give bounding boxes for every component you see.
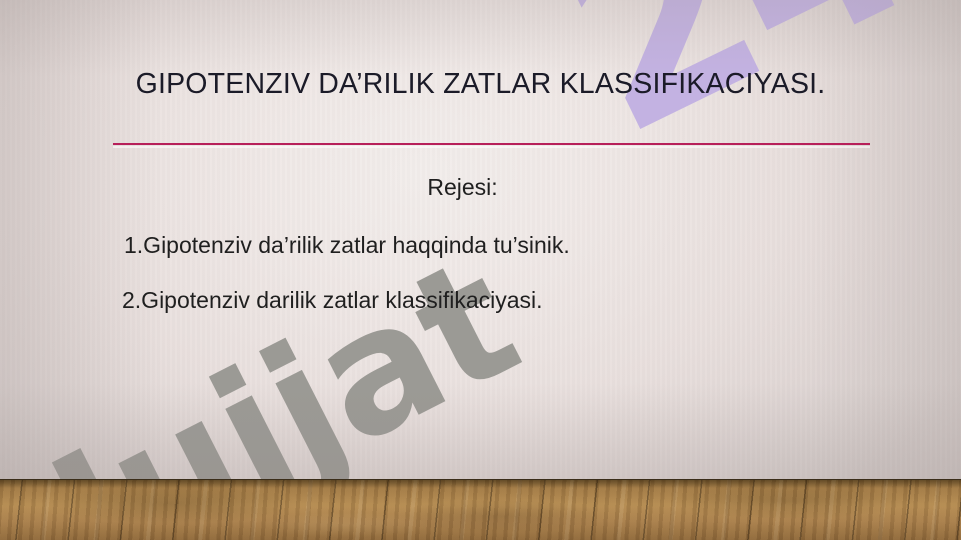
title-divider-rule xyxy=(113,143,870,145)
agenda-heading: Rejesi: xyxy=(0,174,925,201)
floor-shading xyxy=(0,480,961,540)
presentation-slide: 24 Hujjat GIPOTENZIV DA’RILIK ZATLAR KLA… xyxy=(0,0,961,540)
watermark-hujjat-text: Hujjat xyxy=(0,233,538,479)
title-divider-highlight xyxy=(113,146,870,148)
agenda-item-1: 1.Gipotenziv da’rilik zatlar haqqinda tu… xyxy=(124,232,570,259)
slide-background-floor xyxy=(0,479,961,540)
slide-title: GIPOTENZIV DA’RILIK ZATLAR KLASSIFIKACIY… xyxy=(0,68,961,101)
agenda-item-2: 2.Gipotenziv darilik zatlar klassifikaci… xyxy=(122,287,543,314)
